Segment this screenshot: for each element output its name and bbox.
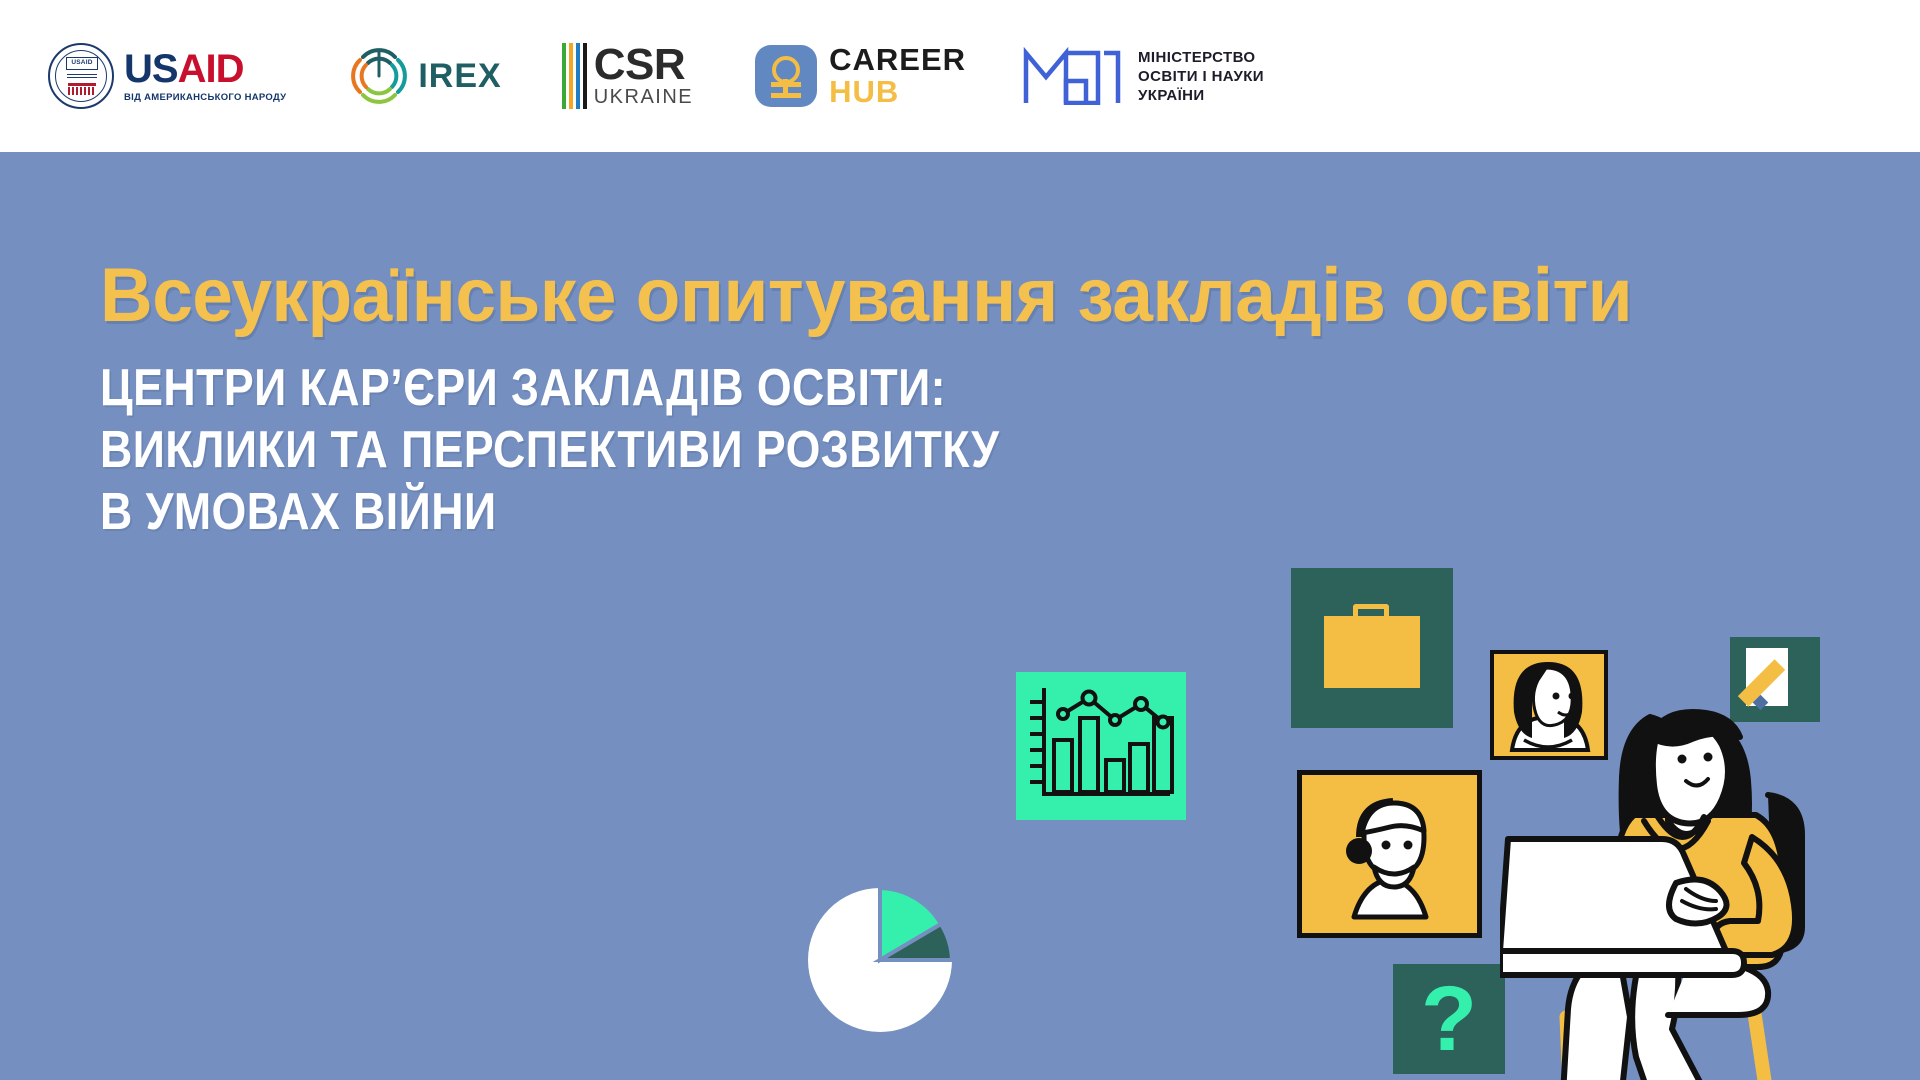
mon-line-3: УКРАЇНИ (1138, 86, 1264, 105)
mon-ukraine-logo: МІНІСТЕРСТВО ОСВІТИ І НАУКИ УКРАЇНИ (1022, 47, 1264, 105)
subtitle-line-3: В УМОВАХ ВІЙНИ (100, 481, 960, 543)
usaid-logo: USAID USAID ВІД АМЕРИКАНСЬКОГО НАРОДУ (48, 43, 286, 109)
subtitle-line-1: ЦЕНТРИ КАР’ЄРИ ЗАКЛАДІВ ОСВІТИ: (100, 357, 960, 419)
irex-wordmark: IREX (418, 57, 501, 96)
briefcase-icon (1324, 616, 1420, 688)
csr-sub-wordmark: UKRAINE (594, 86, 693, 108)
hero-panel: Всеукраїнське опитування закладів освіти… (0, 152, 1920, 1080)
irex-logo: IREX (348, 45, 501, 107)
page-title: Всеукраїнське опитування закладів освіти (100, 252, 1751, 339)
csr-wordmark: CSR (594, 44, 693, 86)
career-hub-monogram-icon (755, 45, 817, 107)
usaid-shield-icon (68, 83, 96, 96)
avatar-man-headset-icon (1302, 775, 1477, 933)
mon-line-2: ОСВІТИ І НАУКИ (1138, 67, 1264, 86)
bar-line-chart-icon (1016, 672, 1186, 820)
briefcase-tile (1291, 568, 1453, 728)
question-mark-icon: ? (1393, 964, 1505, 1074)
career-hub-word-top: CAREER (829, 44, 966, 75)
usaid-wordmark-us: US (124, 47, 178, 91)
usaid-seal-label: USAID (66, 57, 98, 70)
bar-chart-svg (1016, 672, 1186, 820)
question-tile: ? (1393, 964, 1505, 1074)
usaid-seal-icon: USAID (48, 43, 114, 109)
pie-chart-svg (800, 880, 960, 1040)
mon-monogram-icon (1022, 47, 1124, 105)
woman-with-laptop-illustration (1500, 697, 1920, 1080)
subtitle-line-2: ВИКЛИКИ ТА ПЕРСПЕКТИВИ РОЗВИТКУ (100, 419, 960, 481)
usaid-wordmark: USAID (124, 49, 286, 89)
usaid-tagline: ВІД АМЕРИКАНСЬКОГО НАРОДУ (124, 92, 286, 103)
career-hub-word-bottom: HUB (829, 75, 966, 108)
irex-sunburst-icon (348, 45, 410, 107)
presentation-cover: USAID USAID ВІД АМЕРИКАНСЬКОГО НАРОДУ (0, 0, 1920, 1080)
usaid-wordmark-aid: AID (178, 47, 244, 91)
csr-ukraine-logo: CSR UKRAINE (562, 43, 693, 109)
page-subtitle: ЦЕНТРИ КАР’ЄРИ ЗАКЛАДІВ ОСВІТИ: ВИКЛИКИ … (100, 357, 960, 543)
partner-logo-bar: USAID USAID ВІД АМЕРИКАНСЬКОГО НАРОДУ (0, 0, 1920, 152)
mon-line-1: МІНІСТЕРСТВО (1138, 48, 1264, 67)
portrait-tile-man (1297, 770, 1482, 938)
csr-stripes-icon (562, 43, 587, 109)
usaid-handshake-icon (67, 72, 97, 81)
career-hub-logo: CAREER HUB (755, 44, 966, 108)
pie-chart-icon (800, 880, 960, 1040)
